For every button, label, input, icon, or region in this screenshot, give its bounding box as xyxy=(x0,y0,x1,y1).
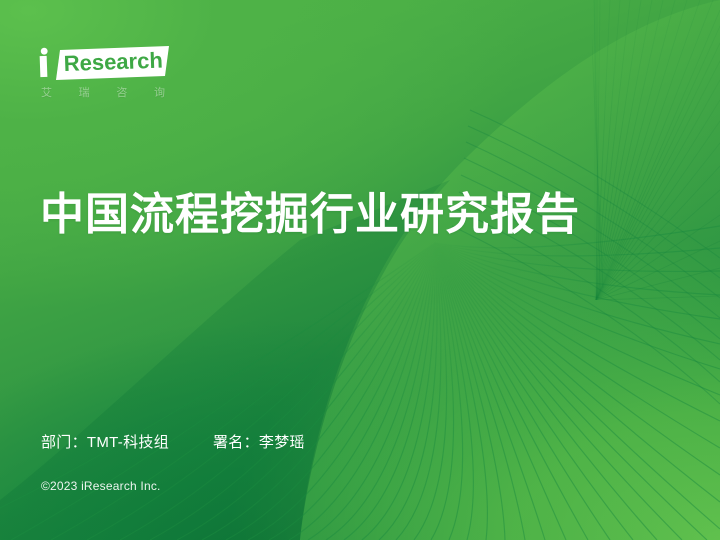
copyright-notice: ©2023 iResearch Inc. xyxy=(41,479,161,493)
logo-subtitle: 艾 瑞 咨 询 xyxy=(41,84,165,100)
logo-wordmark: Research xyxy=(63,48,163,76)
iresearch-logo: Research 艾 瑞 咨 询 xyxy=(38,46,178,102)
meta-author: 署名：李梦瑶 xyxy=(213,431,305,452)
report-cover-slide: Research 艾 瑞 咨 询 中国流程挖掘行业研究报告 部门：TMT-科技组… xyxy=(0,0,720,540)
report-title: 中国流程挖掘行业研究报告 xyxy=(40,186,580,244)
logo-sub-char-2: 瑞 xyxy=(79,84,90,100)
meta-department: 部门：TMT-科技组 xyxy=(41,431,169,452)
report-meta: 部门：TMT-科技组 署名：李梦瑶 xyxy=(41,431,305,452)
logo-letter-i xyxy=(40,48,48,77)
logo-sub-char-3: 咨 xyxy=(116,84,127,100)
iresearch-logo-mark: Research xyxy=(38,46,170,84)
logo-sub-char-4: 询 xyxy=(154,84,165,100)
logo-sub-char-1: 艾 xyxy=(41,84,52,100)
